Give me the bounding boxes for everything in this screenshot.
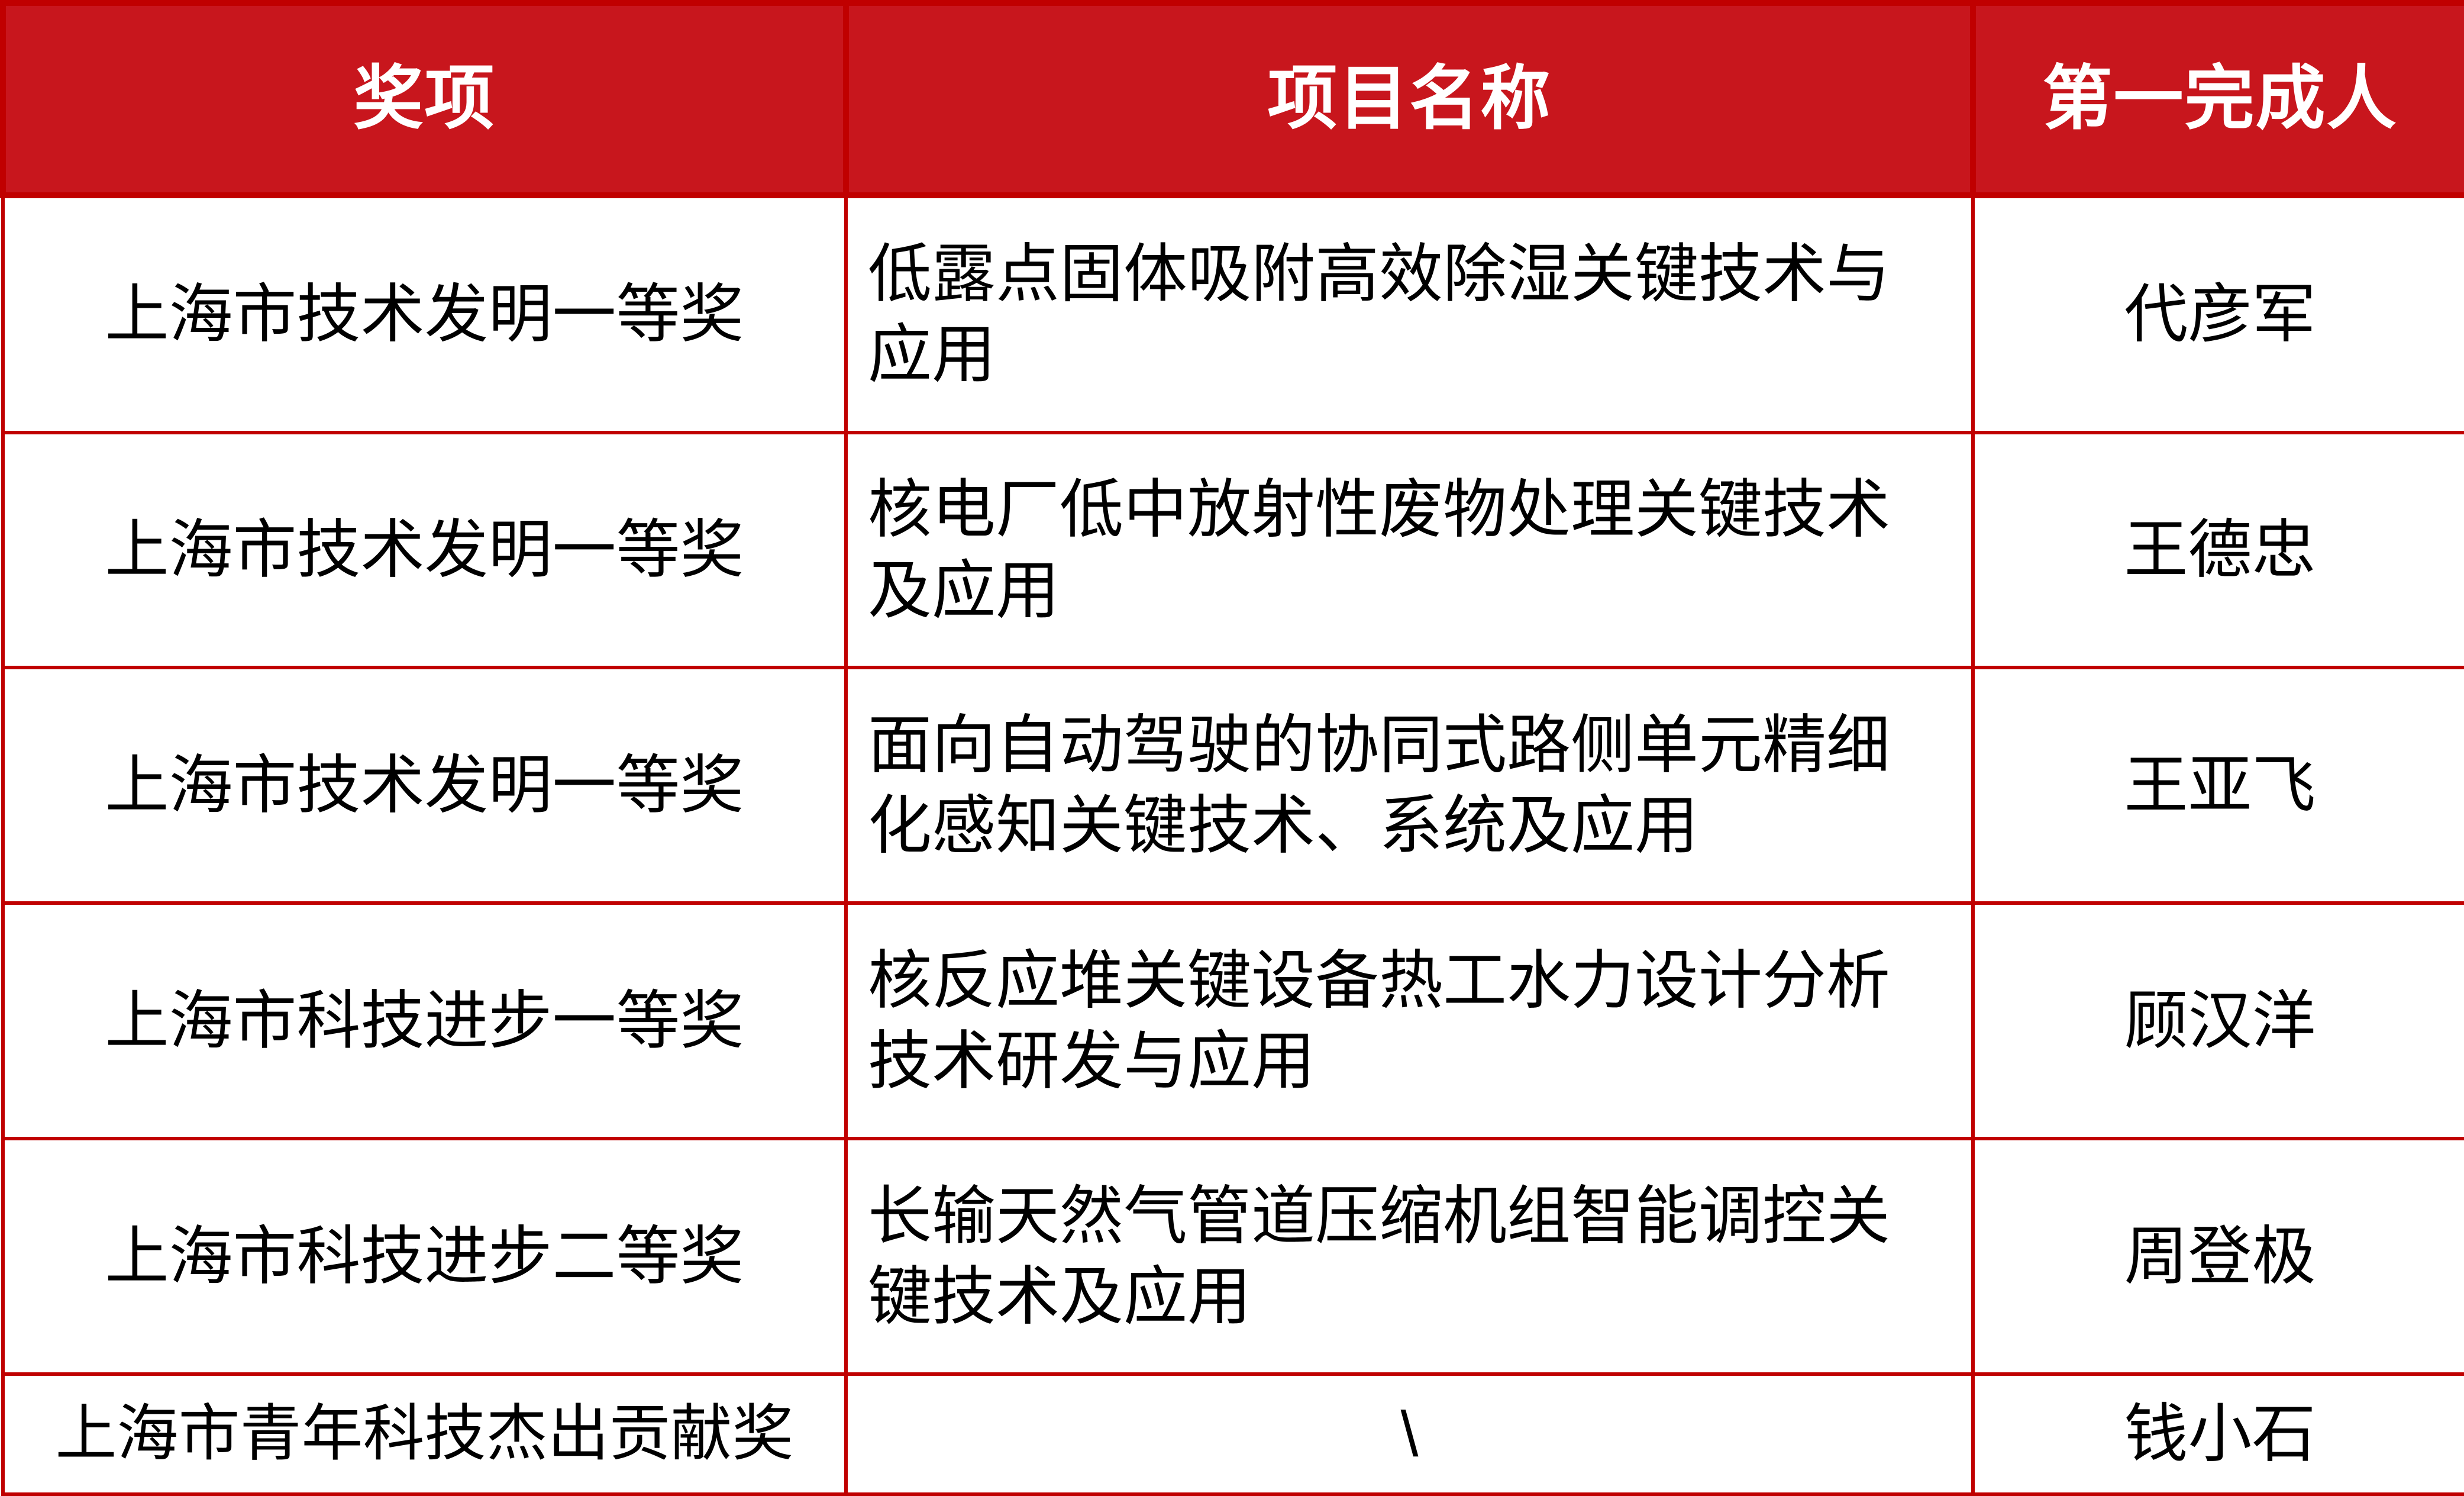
cell-award: 上海市青年科技杰出贡献奖 bbox=[3, 1374, 846, 1494]
cell-award: 上海市技术发明一等奖 bbox=[3, 668, 846, 903]
cell-project: 核电厂低中放射性废物处理关键技术及应用 bbox=[846, 433, 1973, 668]
awards-table: 奖项 项目名称 第一完成人 上海市技术发明一等奖 低露点固体吸附高效除湿关键技术… bbox=[0, 0, 2464, 1496]
cell-project: 长输天然气管道压缩机组智能调控关键技术及应用 bbox=[846, 1139, 1973, 1374]
cell-project: 面向自动驾驶的协同式路侧单元精细化感知关键技术、系统及应用 bbox=[846, 668, 1973, 903]
cell-person: 顾汉洋 bbox=[1973, 903, 2464, 1139]
cell-person: 代彦军 bbox=[1973, 195, 2464, 433]
table-row: 上海市技术发明一等奖 核电厂低中放射性废物处理关键技术及应用 王德忠 bbox=[3, 433, 2464, 668]
cell-person: 王亚飞 bbox=[1973, 668, 2464, 903]
table-row: 上海市技术发明一等奖 低露点固体吸附高效除湿关键技术与应用 代彦军 bbox=[3, 195, 2464, 433]
cell-award: 上海市技术发明一等奖 bbox=[3, 195, 846, 433]
column-header-person: 第一完成人 bbox=[1973, 3, 2464, 195]
cell-person: 周登极 bbox=[1973, 1139, 2464, 1374]
table-row: 上海市科技进步一等奖 核反应堆关键设备热工水力设计分析技术研发与应用 顾汉洋 bbox=[3, 903, 2464, 1139]
cell-project: \ bbox=[846, 1374, 1973, 1494]
table-row: 上海市科技进步二等奖 长输天然气管道压缩机组智能调控关键技术及应用 周登极 bbox=[3, 1139, 2464, 1374]
cell-person: 王德忠 bbox=[1973, 433, 2464, 668]
cell-award: 上海市技术发明一等奖 bbox=[3, 433, 846, 668]
table-row: 上海市技术发明一等奖 面向自动驾驶的协同式路侧单元精细化感知关键技术、系统及应用… bbox=[3, 668, 2464, 903]
cell-project: 核反应堆关键设备热工水力设计分析技术研发与应用 bbox=[846, 903, 1973, 1139]
cell-award: 上海市科技进步一等奖 bbox=[3, 903, 846, 1139]
column-header-project: 项目名称 bbox=[846, 3, 1973, 195]
table-body: 上海市技术发明一等奖 低露点固体吸附高效除湿关键技术与应用 代彦军 上海市技术发… bbox=[3, 195, 2464, 1494]
column-header-award: 奖项 bbox=[3, 3, 846, 195]
table-header-row: 奖项 项目名称 第一完成人 bbox=[3, 3, 2464, 195]
table-row: 上海市青年科技杰出贡献奖 \ 钱小石 bbox=[3, 1374, 2464, 1494]
cell-project: 低露点固体吸附高效除湿关键技术与应用 bbox=[846, 195, 1973, 433]
cell-person: 钱小石 bbox=[1973, 1374, 2464, 1494]
cell-award: 上海市科技进步二等奖 bbox=[3, 1139, 846, 1374]
table-header: 奖项 项目名称 第一完成人 bbox=[3, 3, 2464, 195]
